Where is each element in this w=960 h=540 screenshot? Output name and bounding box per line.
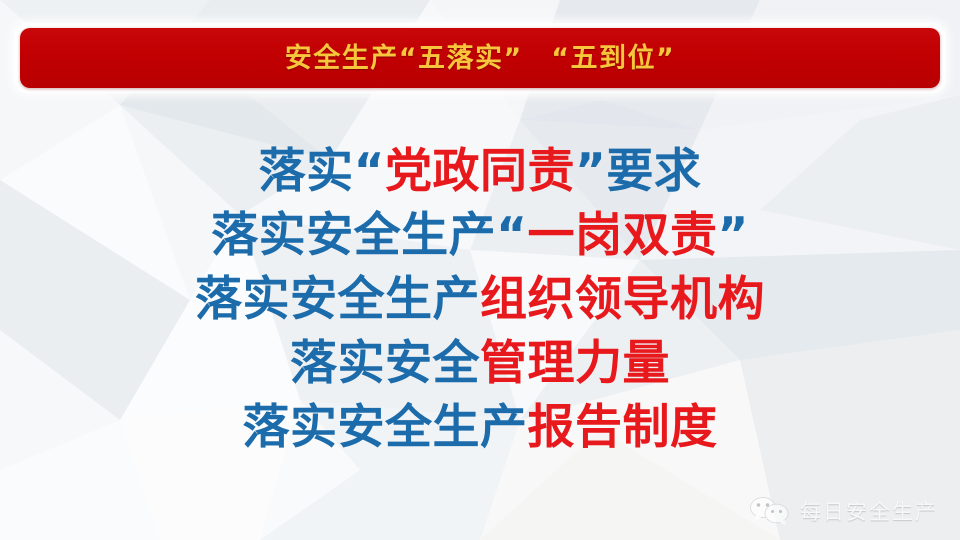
- line-2-segment-1: 落实安全生产“: [211, 208, 527, 263]
- line-4-segment-1: 落实安全: [290, 336, 480, 391]
- main-text-block: 落实“党政同责”要求 落实安全生产“一岗双责” 落实安全生产组织领导机构 落实安…: [0, 140, 960, 460]
- content-line-2: 落实安全生产“一岗双责”: [0, 204, 960, 268]
- banner-title: 安全生产“五落实” “五到位”: [285, 45, 675, 72]
- line-1-segment-1: 落实“: [259, 144, 385, 199]
- slide-canvas: 安全生产“五落实” “五到位” 落实“党政同责”要求 落实安全生产“一岗双责” …: [0, 0, 960, 540]
- content-line-4: 落实安全管理力量: [0, 332, 960, 396]
- line-3-segment-2: 组织领导机构: [480, 272, 765, 327]
- wechat-icon: [749, 496, 791, 526]
- header-banner: 安全生产“五落实” “五到位”: [20, 28, 940, 88]
- watermark-label: 每日安全生产: [800, 496, 938, 526]
- line-1-segment-2: 党政同责: [385, 144, 575, 199]
- content-line-1: 落实“党政同责”要求: [0, 140, 960, 204]
- line-4-segment-2: 管理力量: [480, 336, 670, 391]
- line-5-segment-2: 报告制度: [528, 400, 718, 455]
- content-line-5: 落实安全生产报告制度: [0, 396, 960, 460]
- line-2-segment-2: 一岗双责: [528, 208, 718, 263]
- content-line-3: 落实安全生产组织领导机构: [0, 268, 960, 332]
- watermark: 每日安全生产: [749, 496, 938, 526]
- line-2-segment-3: ”: [718, 208, 749, 263]
- line-3-segment-1: 落实安全生产: [195, 272, 480, 327]
- line-1-segment-3: ”要求: [575, 144, 701, 199]
- line-5-segment-1: 落实安全生产: [243, 400, 528, 455]
